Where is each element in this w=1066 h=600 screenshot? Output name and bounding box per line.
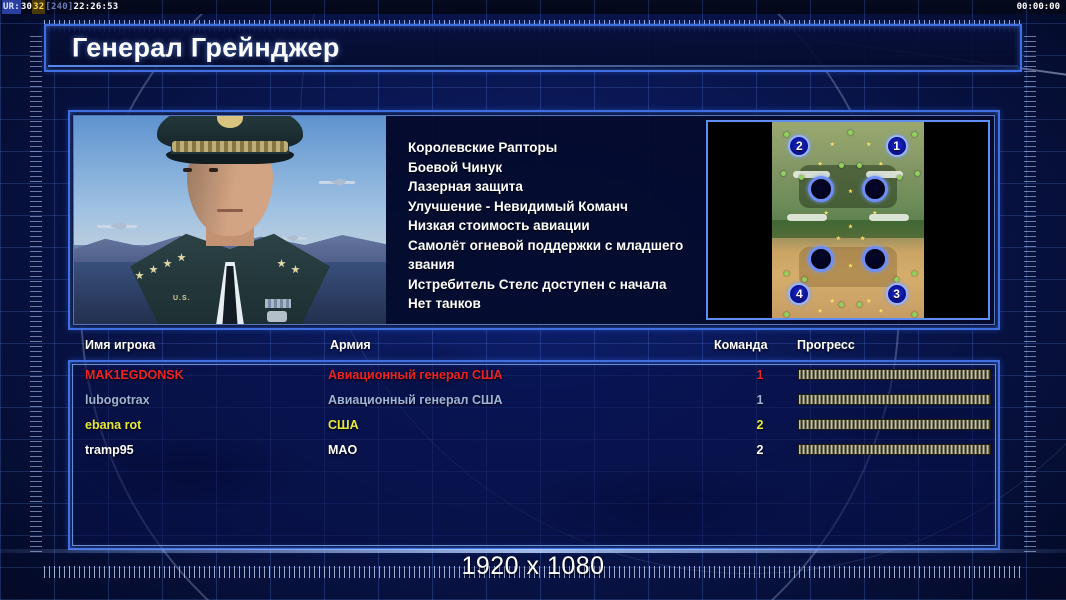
game-lobby-screen: UR:3032[240]22:26:53 00:00:00 Генерал Гр… [0,0,1066,600]
general-bonus-line: Боевой Чинук [408,158,690,178]
general-figure: U.S. [115,124,345,324]
supply-dock-icon [848,130,853,135]
general-bonus-line: Истребитель Стелс доступен с начала [408,275,690,295]
map-objective-marker [808,176,834,202]
supply-dock-icon [784,132,789,137]
general-bonus-line: Улучшение - Невидимый Команч [408,197,690,217]
stats-bracket: [240] [45,0,73,14]
general-bonus-line: Низкая стоимость авиации [408,216,690,236]
general-title-panel: Генерал Грейнджер [44,24,1022,72]
supply-dock-icon [784,271,789,276]
player-team: 2 [742,413,778,438]
general-bonus-list: Королевские РапторыБоевой ЧинукЛазерная … [386,116,702,324]
player-name: tramp95 [85,438,134,463]
general-portrait: U.S. [74,116,386,324]
player-progress-bar [798,419,991,430]
player-progress-fill [799,370,990,379]
general-bonus-line: Королевские Рапторы [408,138,690,158]
player-team: 2 [742,438,778,463]
start-position-marker-1[interactable]: 1 [886,135,908,157]
column-header-player: Имя игрока [85,338,155,356]
resolution-label: 1920 x 1080 [0,552,1066,581]
player-army: Авиационный генерал США [328,388,503,413]
tech-building-icon [878,308,883,313]
player-progress-bar [798,394,991,405]
player-name: lubogotrax [85,388,150,413]
player-name: ebana rot [85,413,141,438]
start-position-marker-3[interactable]: 3 [886,283,908,305]
tech-building-icon [866,142,871,147]
stats-prefix: UR: [2,0,21,14]
player-progress-bar [798,369,991,380]
table-row: MAK1EGDONSKАвиационный генерал США1 [70,363,1000,388]
general-bonus-line: Лазерная защита [408,177,690,197]
status-bar: UR:3032[240]22:26:53 00:00:00 [0,0,1066,14]
map-terrain: 2143 [772,122,924,318]
ribbon-icon [265,299,291,308]
ruler-right [1024,32,1036,552]
stats-value-2: 32 [32,0,45,14]
general-bonus-line: звания [408,255,690,275]
map-objective-marker [862,176,888,202]
start-position-marker-4[interactable]: 4 [788,283,810,305]
table-row: ebana rotСША2 [70,413,1000,438]
supply-dock-icon [912,312,917,317]
column-header-progress: Прогресс [797,338,855,356]
supply-dock-icon [897,175,902,180]
supply-dock-icon [857,302,862,307]
player-name: MAK1EGDONSK [85,363,184,388]
player-army: Авиационный генерал США [328,363,503,388]
network-stats: UR:3032[240]22:26:53 [2,0,118,14]
elapsed-timer: 00:00:00 [1017,0,1060,14]
supply-dock-icon [894,277,899,282]
start-position-marker-2[interactable]: 2 [788,135,810,157]
column-header-army: Армия [330,338,371,356]
tech-building-icon [830,298,835,303]
title-underline [48,65,1018,67]
players-table: MAK1EGDONSKАвиационный генерал США1lubog… [70,363,1000,463]
general-bonus-line: Самолёт огневой поддержки с младшего [408,236,690,256]
supply-dock-icon [915,171,920,176]
player-progress-fill [799,395,990,404]
table-row: lubogotraxАвиационный генерал США1 [70,388,1000,413]
supply-dock-icon [912,271,917,276]
ruler-left [30,32,42,552]
stats-clock: 22:26:53 [73,0,118,14]
table-row: tramp95MAO2 [70,438,1000,463]
column-header-team: Команда [714,338,768,356]
player-team: 1 [742,388,778,413]
supply-dock-icon [912,132,917,137]
tech-building-icon [830,142,835,147]
badge-icon [267,311,287,322]
supply-dock-icon [784,312,789,317]
general-info-panel: U.S. Королевские РапторыБоевой ЧинукЛазе… [68,110,1000,330]
tech-building-icon [866,298,871,303]
map-preview[interactable]: 2143 [702,116,994,324]
supply-dock-icon [839,302,844,307]
status-bar-grid [0,0,1066,14]
general-bonus-line: Нет танков [408,294,690,314]
player-progress-fill [799,420,990,429]
supply-dock-icon [781,171,786,176]
map-objective-marker [808,246,834,272]
page-title: Генерал Грейнджер [72,33,340,64]
stats-value-1: 30 [21,0,32,14]
player-progress-fill [799,445,990,454]
player-army: MAO [328,438,357,463]
player-army: США [328,413,359,438]
tech-building-icon [818,308,823,313]
player-team: 1 [742,363,778,388]
player-progress-bar [798,444,991,455]
